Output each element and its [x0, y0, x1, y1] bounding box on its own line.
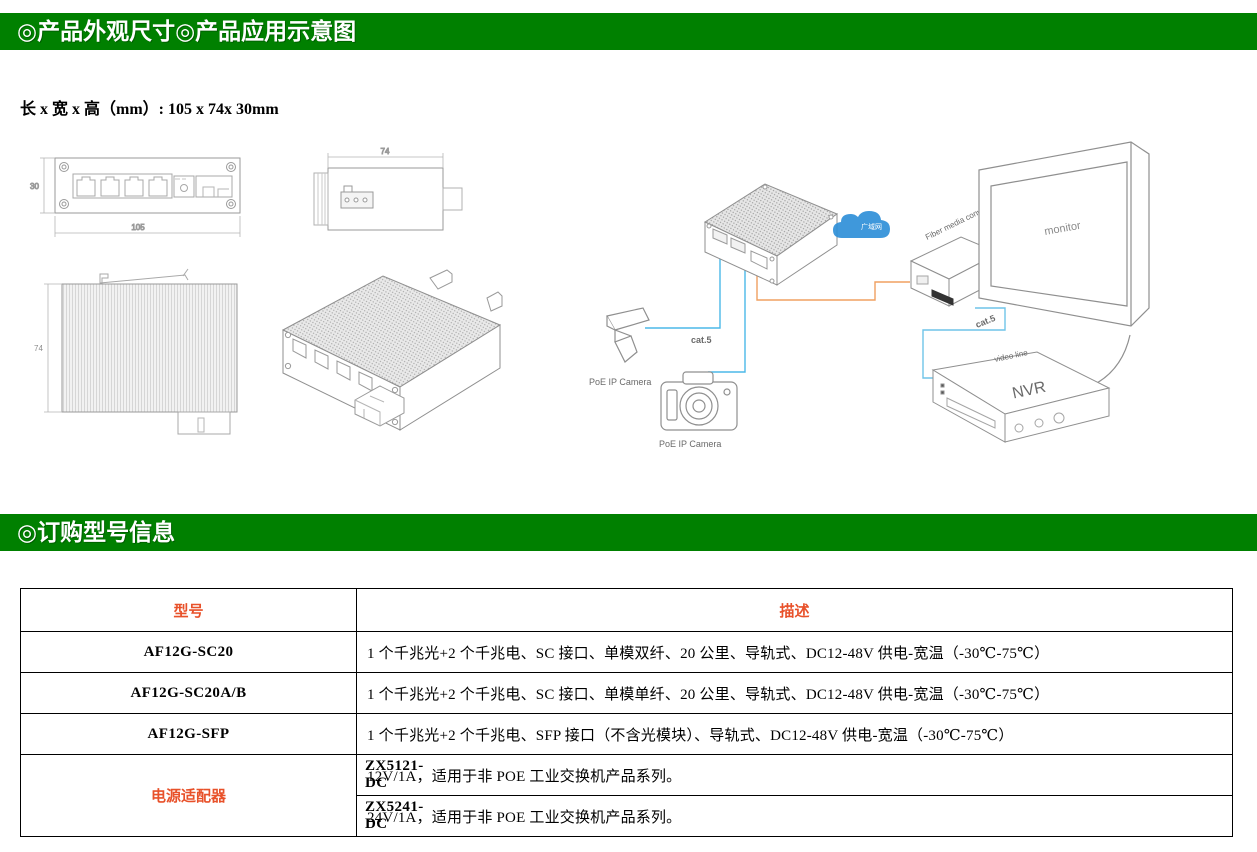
adapter-group-label: 电源适配器: [21, 755, 357, 837]
table-header-row: 型号 描述: [21, 589, 1233, 632]
top-view-drawing: 74: [314, 147, 462, 230]
cable-cat5-camera1: [645, 242, 720, 328]
column-header-description: 描述: [357, 589, 1233, 632]
section-header-appearance-text: ◎产品外观尺寸◎产品应用示意图: [0, 13, 356, 50]
model-description: 1 个千兆光+2 个千兆电、SFP 接口（不含光模块）、导轨式、DC12-48V…: [357, 714, 1233, 755]
poe-dslr-camera: [661, 372, 737, 430]
section-header-ordering: ◎订购型号信息: [0, 514, 1257, 551]
diagram-switch: [705, 184, 837, 285]
poe-camera1-label: PoE IP Camera: [589, 377, 651, 387]
adapter-description: 24V/1A，适用于非 POE 工业交换机产品系列。: [357, 796, 1233, 837]
application-diagram: 广域网 Fiber media converter monitor: [575, 130, 1245, 470]
section-header-ordering-text: ◎订购型号信息: [0, 514, 175, 551]
front-view-height-label: 30: [30, 182, 39, 191]
model-name: AF12G-SC20A/B: [21, 673, 357, 714]
adapter-description: 12V/1A，适用于非 POE 工业交换机产品系列。: [357, 755, 1233, 796]
model-name: AF12G-SFP: [21, 714, 357, 755]
wan-cloud-icon: 广域网: [833, 211, 890, 238]
table-row: AF12G-SC20 1 个千兆光+2 个千兆电、SC 接口、单模双纤、20 公…: [21, 632, 1233, 673]
table-row: AF12G-SFP 1 个千兆光+2 个千兆电、SFP 接口（不含光模块）、导轨…: [21, 714, 1233, 755]
front-view-drawing: 30 105: [30, 158, 240, 237]
cat5-right-label: cat.5: [974, 313, 997, 330]
section-header-appearance: ◎产品外观尺寸◎产品应用示意图: [0, 13, 1257, 50]
top-view-width-label: 74: [381, 147, 390, 156]
mechanical-drawings: 30 105: [0, 130, 560, 470]
cat5-left-label: cat.5: [691, 335, 712, 345]
table-row: AF12G-SC20A/B 1 个千兆光+2 个千兆电、SC 接口、单模单纤、2…: [21, 673, 1233, 714]
model-description: 1 个千兆光+2 个千兆电、SC 接口、单模双纤、20 公里、导轨式、DC12-…: [357, 632, 1233, 673]
back-view-drawing: 74: [34, 269, 237, 434]
isometric-view-drawing: [283, 270, 502, 430]
ordering-info-table: 型号 描述 AF12G-SC20 1 个千兆光+2 个千兆电、SC 接口、单模双…: [20, 588, 1233, 837]
back-view-height-label: 74: [34, 344, 43, 353]
front-view-width-label: 105: [131, 223, 145, 232]
dimension-caption: 长 x 宽 x 高（mm）: 105 x 74x 30mm: [20, 95, 279, 119]
poe-camera2-label: PoE IP Camera: [659, 439, 721, 449]
column-header-model: 型号: [21, 589, 357, 632]
table-row-adapter: 电源适配器 ZX5121-DC 12V/1A，适用于非 POE 工业交换机产品系…: [21, 755, 1233, 796]
model-name: AF12G-SC20: [21, 632, 357, 673]
model-description: 1 个千兆光+2 个千兆电、SC 接口、单模单纤、20 公里、导轨式、DC12-…: [357, 673, 1233, 714]
wan-cloud-label: 广域网: [861, 222, 882, 231]
poe-bullet-camera: [607, 308, 649, 362]
